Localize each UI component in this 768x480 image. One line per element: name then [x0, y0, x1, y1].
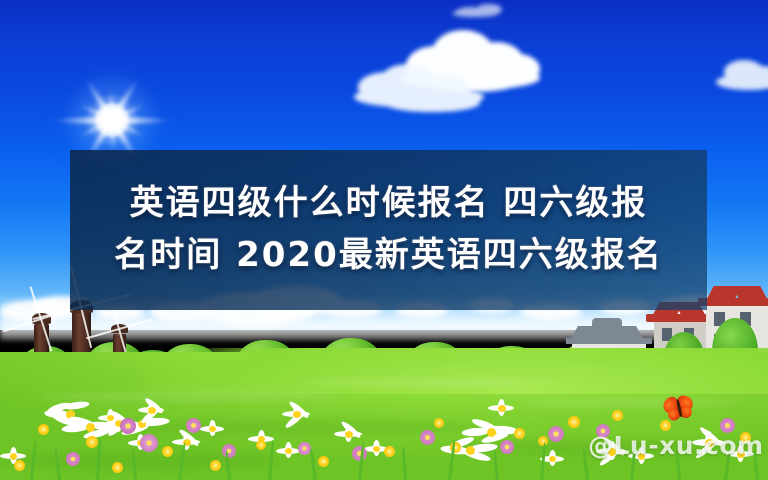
meadow-highlight [0, 348, 768, 394]
cloud-small-top [452, 2, 512, 18]
cloud-far-right [716, 56, 768, 96]
cloud-mid-right [374, 58, 514, 124]
title-text-block: 英语四级什么时候报名 四六级报 名时间 2020最新英语四六级报名 [70, 150, 707, 310]
image-canvas: 英语四级什么时候报名 四六级报 名时间 2020最新英语四六级报名 @Lu-xu… [0, 0, 768, 480]
title-line-2: 名时间 2020最新英语四六级报名 [114, 230, 662, 282]
site-watermark: @Lu-xu.com [588, 431, 764, 460]
title-line-1: 英语四级什么时候报名 四六级报 [130, 178, 648, 230]
